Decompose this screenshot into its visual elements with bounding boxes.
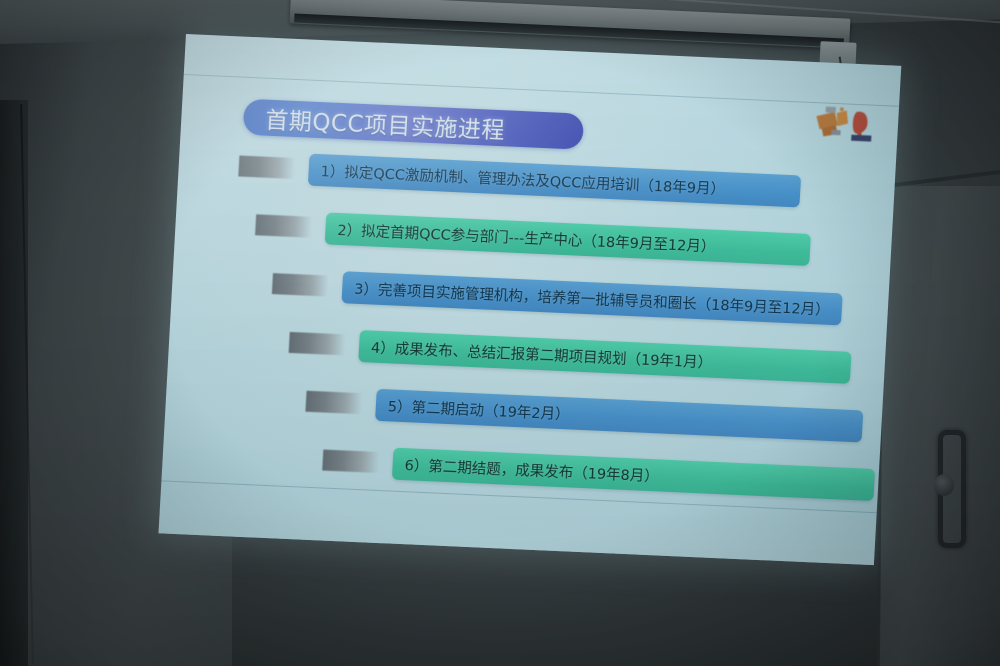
row-accent-tab [255, 214, 312, 237]
process-row: 5）第二期启动（19年2月） [165, 379, 882, 443]
process-bar[interactable]: 6）第二期结题，成果发布（19年8月） [392, 448, 875, 501]
process-row: 4）成果发布、总结汇报第二期项目规划（19年1月） [168, 322, 885, 386]
process-bar[interactable]: 5）第二期启动（19年2月） [375, 389, 863, 443]
process-row-label: 2）拟定首期QCC参与部门---生产中心（18年9月至12月） [325, 218, 716, 256]
row-accent-tab [238, 155, 295, 178]
slide-title-banner: 首期QCC项目实施进程 [243, 99, 585, 150]
room-door[interactable] [878, 186, 1000, 666]
projection-screen: 首期QCC项目实施进程 [159, 34, 902, 565]
process-row-label: 3）完善项目实施管理机构，培养第一批辅导员和圈长（18年9月至12月） [342, 277, 831, 320]
process-row: 1）拟定QCC激励机制、管理办法及QCC应用培训（18年9月） [178, 148, 895, 212]
slide-content: 首期QCC项目实施进程 [159, 34, 902, 565]
process-bar[interactable]: 3）完善项目实施管理机构，培养第一批辅导员和圈长（18年9月至12月） [341, 271, 842, 325]
process-row-label: 1）拟定QCC激励机制、管理办法及QCC应用培训（18年9月） [308, 159, 725, 199]
process-bar[interactable]: 2）拟定首期QCC参与部门---生产中心（18年9月至12月） [325, 212, 811, 266]
process-row: 2）拟定首期QCC参与部门---生产中心（18年9月至12月） [175, 206, 892, 270]
process-row-label: 6）第二期结题，成果发布（19年8月） [392, 453, 659, 486]
process-bar[interactable]: 1）拟定QCC激励机制、管理办法及QCC应用培训（18年9月） [308, 154, 801, 208]
process-bar[interactable]: 4）成果发布、总结汇报第二期项目规划（19年1月） [358, 330, 851, 384]
row-accent-tab [322, 450, 379, 473]
photo-scene: 首期QCC项目实施进程 [0, 0, 1000, 666]
row-accent-tab [305, 391, 362, 414]
row-accent-tab [272, 273, 329, 296]
door-lock-icon[interactable] [934, 474, 954, 496]
page-title: 首期QCC项目实施进程 [243, 100, 506, 146]
process-row-label: 4）成果发布、总结汇报第二期项目规划（19年1月） [359, 336, 713, 373]
process-row: 3）完善项目实施管理机构，培养第一批辅导员和圈长（18年9月至12月） [172, 264, 889, 328]
process-row-label: 5）第二期启动（19年2月） [375, 394, 570, 424]
company-logo [811, 102, 879, 145]
process-row: 6）第二期结题，成果发布（19年8月） [162, 437, 879, 501]
row-accent-tab [289, 332, 346, 355]
